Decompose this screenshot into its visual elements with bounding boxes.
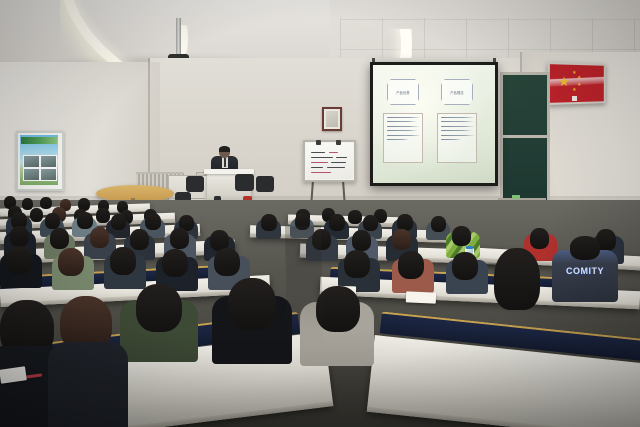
student-head [530,228,549,249]
student-head [111,214,126,230]
student-head [40,197,52,209]
student-head [6,246,32,274]
lecturer: Lecturer at podium [219,146,230,158]
slide-heading-left: 产品优势 [387,79,419,105]
student-head [58,248,84,276]
student-head [363,215,378,231]
black-chair-3 [256,176,274,192]
student-head [392,229,411,250]
center-aisle [285,226,323,347]
open-notebook [406,291,436,303]
student-head [145,213,161,230]
student-head [398,251,424,279]
student-head [261,214,277,231]
flag-wall-mount [572,96,577,101]
student-head [214,248,240,276]
slide-text-block-left [383,113,423,163]
green-chalkboard [500,72,550,208]
student-head [90,227,109,248]
student-head [162,249,188,277]
student-head [10,226,29,247]
student-head [228,278,276,330]
black-chair-1 [186,176,204,192]
student-head [431,216,446,232]
student-head [30,208,43,222]
student-head [344,250,370,278]
wall-poster-label: Framed informational poster [18,133,19,134]
student-head [452,226,471,246]
student-head [452,252,478,280]
student-head [170,228,189,249]
student-head [130,229,149,250]
whiteboard: Handwritten notes in black and red marke… [303,140,356,182]
framed-picture [322,107,342,131]
student-head [136,284,182,332]
chalk-piece [512,195,520,199]
flag-label: Chinese national flag [550,64,551,65]
lecture-hall-photo: Framed informational poster ★ ★ ★ ★ ★ Ch… [0,0,640,427]
student-head [50,228,69,249]
slide-text-block-right [437,113,477,163]
student-head [45,213,60,229]
student-head [22,198,33,210]
jacket-text: COMITY [558,264,612,278]
student-head [352,230,371,251]
student-head [77,212,93,229]
student-long-hair [494,248,540,310]
student-head [329,214,345,231]
wall-poster: Framed informational poster [16,131,64,191]
black-chair-2 [235,174,254,191]
student-head [110,247,136,275]
projector-mount-pole [176,18,181,58]
student-head [570,236,600,260]
slide-heading-right: 产品理念 [441,79,473,105]
projection-screen: 产品优势 产品理念 [370,62,498,186]
student-torso-foreground [48,342,128,427]
